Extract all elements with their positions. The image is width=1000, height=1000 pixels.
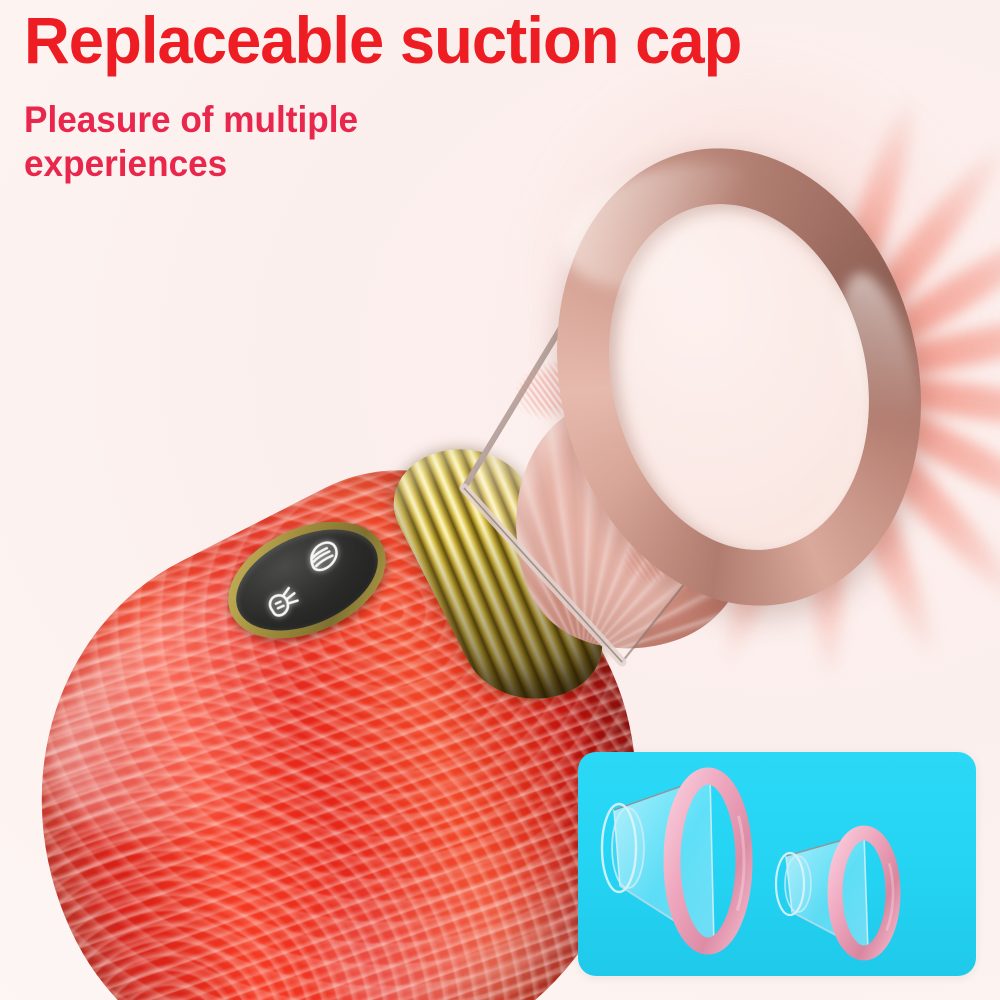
page-subtitle: Pleasure of multiple experiences [24, 98, 471, 186]
product-banner: Replaceable suction cap Pleasure of mult… [0, 0, 1000, 1000]
page-title: Replaceable suction cap [24, 6, 946, 74]
accessory-inset-panel [578, 752, 976, 976]
list-item [768, 818, 936, 968]
list-item [590, 760, 768, 968]
